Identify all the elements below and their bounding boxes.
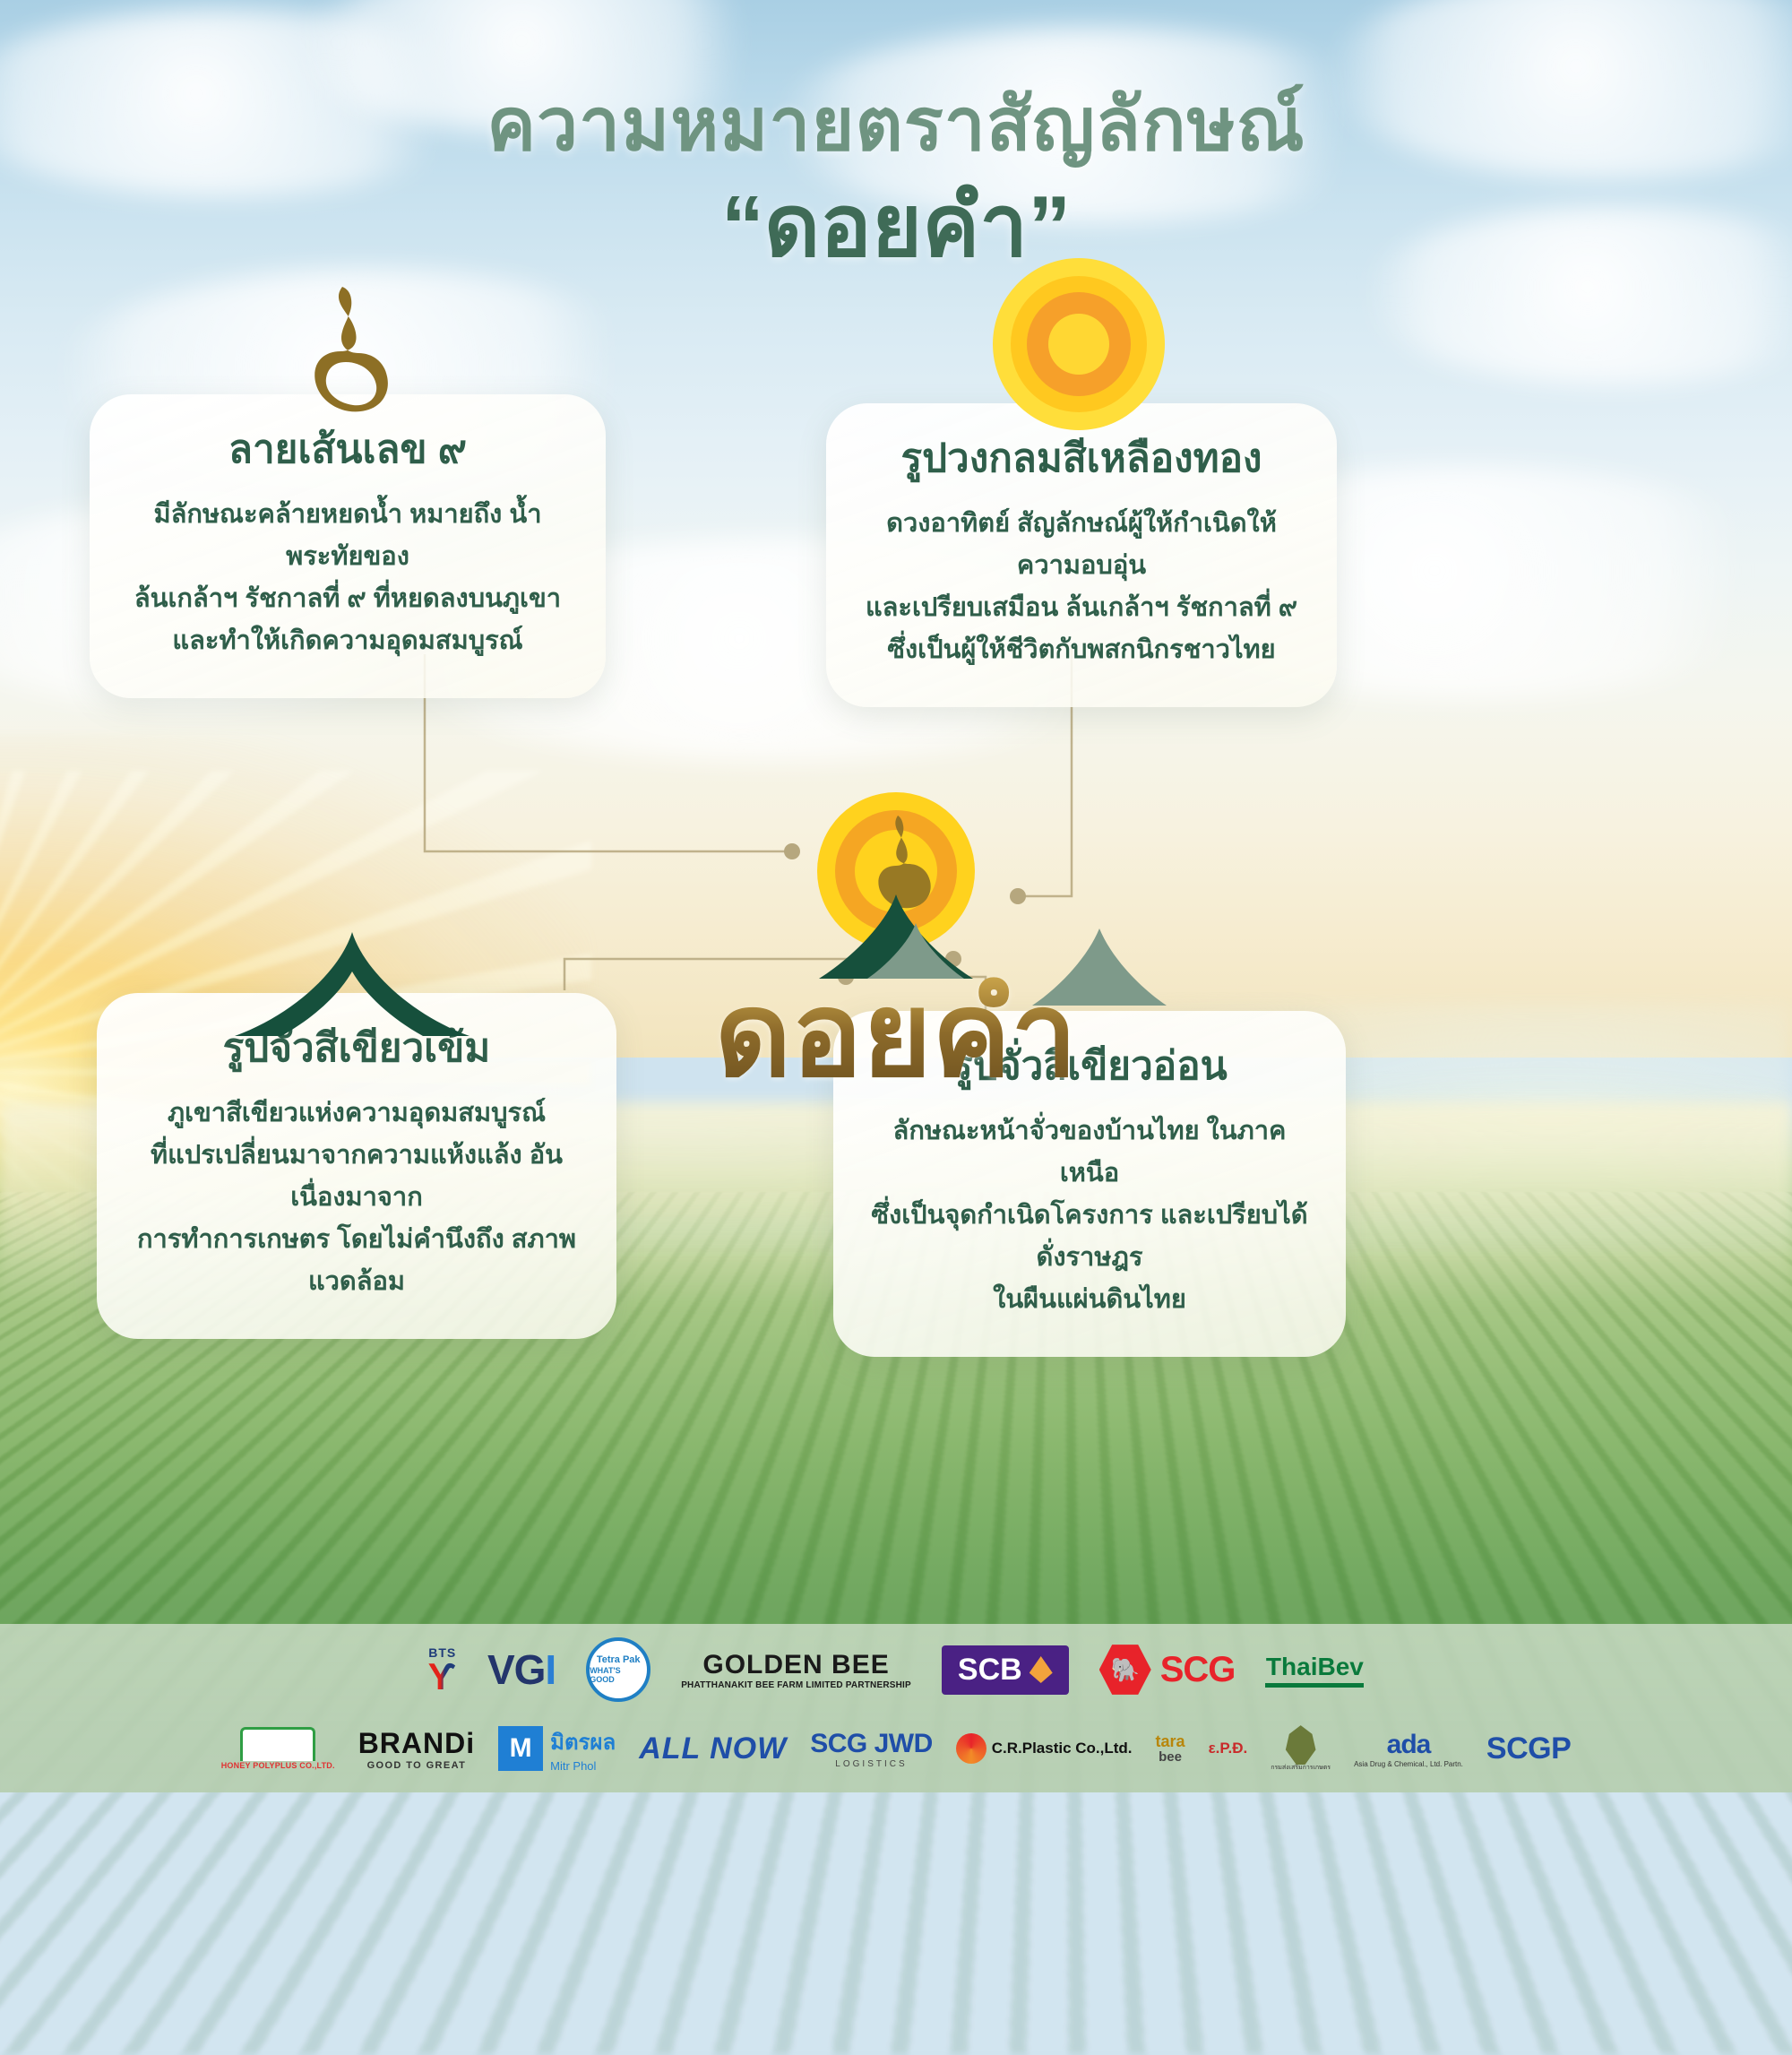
brand-wordmark: ดอยคำ — [0, 976, 1792, 1094]
sponsor-label: ThaiBev — [1266, 1653, 1364, 1681]
sponsor-label: BRANDi — [358, 1727, 475, 1760]
sponsor-logo-bts[interactable]: BTS Ƴ — [428, 1645, 457, 1694]
brand-logo-block: ดอยคำ — [0, 789, 1792, 1094]
sponsor-sublabel: Asia Drug & Chemical., Ltd. Partn. — [1354, 1760, 1463, 1768]
card-body: ดวงอาทิตย์ สัญลักษณ์ผู้ให้กำเนิดให้ความอ… — [862, 503, 1301, 671]
card-top-left: ลายเส้นเลข ๙ มีลักษณะคล้ายหยดน้ำ หมายถึง… — [90, 394, 606, 698]
card-body-line: และทำให้เกิดความอุดมสมบูรณ์ — [125, 620, 570, 662]
page-subtitle: “ดอยคำ” — [0, 178, 1792, 275]
sponsor-label: ε.Ρ.Đ. — [1209, 1740, 1248, 1757]
sponsor-logo-government-agency[interactable]: กรมส่งเสริมการเกษตร — [1271, 1725, 1331, 1772]
card-body-line: ดวงอาทิตย์ สัญลักษณ์ผู้ให้กำเนิดให้ความอ… — [862, 503, 1301, 587]
sponsor-label: ada — [1387, 1730, 1431, 1760]
sponsor-label: ALL NOW — [639, 1731, 787, 1766]
sponsor-label: HONEY POLYPLUS CO.,LTD. — [221, 1761, 335, 1770]
sponsor-sublabel: กรมส่งเสริมการเกษตร — [1271, 1765, 1331, 1772]
page-title-block: ความหมายตราสัญลักษณ์ “ดอยคำ” — [0, 86, 1792, 274]
sponsor-logo-golden-bee[interactable]: GOLDEN BEE PHATTHANAKIT BEE FARM LIMITED… — [681, 1650, 911, 1690]
cr-plastic-mark-icon — [956, 1733, 986, 1764]
sponsor-logo-thaibev[interactable]: ThaiBev — [1265, 1653, 1364, 1688]
card-body: มีลักษณะคล้ายหยดน้ำ หมายถึง น้ำพระทัยของ… — [125, 494, 570, 662]
sponsor-logo-brandi[interactable]: BRANDi GOOD TO GREAT — [358, 1727, 475, 1771]
card-body-line: ซึ่งเป็นผู้ให้ชีวิตกับพสกนิกรชาวไทย — [862, 629, 1301, 671]
sponsor-mark: Ƴ — [428, 1660, 457, 1694]
sponsor-logo-ada[interactable]: ada Asia Drug & Chemical., Ltd. Partn. — [1354, 1730, 1463, 1768]
sponsor-label: Tetra Pak — [597, 1655, 641, 1666]
card-body: ภูเขาสีเขียวแห่งความอุดมสมบูรณ์ ที่แปรเป… — [133, 1092, 581, 1303]
sponsor-logo-scg-jwd[interactable]: SCG JWD LOGISTICS — [810, 1729, 933, 1769]
doikham-logo-icon — [797, 789, 995, 981]
card-body-line: การทำการเกษตร โดยไม่คำนึงถึง สภาพแวดล้อม — [133, 1219, 581, 1303]
page-title: ความหมายตราสัญลักษณ์ — [0, 86, 1792, 166]
sponsor-logo-scg[interactable]: 🐘 SCG — [1099, 1644, 1236, 1696]
sponsor-row-1: BTS Ƴ VGI Tetra Pak WHAT'S GOOD GOLDEN B… — [0, 1624, 1792, 1710]
card-body-line: ล้นเกล้าฯ รัชกาลที่ ๙ ที่หยดลงบนภูเขา — [125, 578, 570, 620]
sponsor-logo-all-now[interactable]: ALL NOW — [639, 1731, 787, 1766]
beehive-house-icon — [240, 1727, 315, 1761]
sponsor-label: GOLDEN BEE — [702, 1650, 889, 1680]
sponsor-sublabel: GOOD TO GREAT — [367, 1760, 467, 1771]
sponsor-sublabel: PHATTHANAKIT BEE FARM LIMITED PARTNERSHI… — [681, 1680, 911, 1690]
elephant-icon: 🐘 — [1099, 1644, 1151, 1696]
card-body-line: ซึ่งเป็นจุดกำเนิดโครงการ และเปรียบได้ดั่… — [869, 1195, 1310, 1279]
sponsor-sublabel: WHAT'S GOOD — [590, 1666, 647, 1684]
sponsor-logo-mitr-phol[interactable]: M มิตรผล Mitr Phol — [498, 1724, 616, 1773]
card-body-line: ในผืนแผ่นดินไทย — [869, 1279, 1310, 1321]
sponsor-logo-vgi[interactable]: VGI — [487, 1645, 556, 1694]
sponsor-label: SCB — [958, 1653, 1022, 1688]
sponsor-label: SCG JWD — [810, 1729, 933, 1759]
card-title: ลายเส้นเลข ๙ — [125, 425, 570, 474]
golden-circle-sun-icon — [991, 256, 1167, 432]
card-body-line: ภูเขาสีเขียวแห่งความอุดมสมบูรณ์ — [133, 1092, 581, 1135]
sponsor-logo-honey-polyplus[interactable]: HONEY POLYPLUS CO.,LTD. — [221, 1727, 335, 1770]
sponsor-row-2: HONEY POLYPLUS CO.,LTD. BRANDi GOOD TO G… — [0, 1710, 1792, 1787]
card-body-line: ลักษณะหน้าจั่วของบ้านไทย ในภาคเหนือ — [869, 1110, 1310, 1195]
card-body-line: มีลักษณะคล้ายหยดน้ำ หมายถึง น้ำพระทัยของ — [125, 494, 570, 578]
sponsor-bar: BTS Ƴ VGI Tetra Pak WHAT'S GOOD GOLDEN B… — [0, 1624, 1792, 1792]
sponsor-label: มิตรผล — [550, 1724, 616, 1759]
sponsor-accent: I — [545, 1645, 556, 1694]
sponsor-logo-scgp[interactable]: SCGP — [1486, 1731, 1571, 1766]
card-body-line: ที่แปรเปลี่ยนมาจากความแห้งแล้ง อันเนื่อง… — [133, 1135, 581, 1219]
garuda-emblem-icon — [1283, 1725, 1319, 1765]
thai-numeral-nine-icon — [296, 285, 394, 419]
sponsor-label: tara — [1156, 1733, 1185, 1749]
card-top-right: รูปวงกลมสีเหลืองทอง ดวงอาทิตย์ สัญลักษณ์… — [826, 403, 1337, 707]
sponsor-sublabel: bee — [1159, 1749, 1182, 1765]
sponsor-sublabel: LOGISTICS — [835, 1759, 907, 1769]
sponsor-logo-tetra-pak[interactable]: Tetra Pak WHAT'S GOOD — [586, 1637, 650, 1702]
scb-diamond-icon — [1030, 1656, 1053, 1683]
sponsor-label: C.R.Plastic Co.,Ltd. — [992, 1740, 1133, 1757]
sponsor-label: SCG — [1160, 1650, 1236, 1690]
thaibev-underline — [1265, 1683, 1364, 1688]
sponsor-logo-cr-plastic[interactable]: C.R.Plastic Co.,Ltd. — [956, 1733, 1133, 1764]
card-title: รูปวงกลมสีเหลืองทอง — [862, 434, 1301, 483]
sponsor-sublabel: Mitr Phol — [550, 1759, 616, 1773]
sponsor-label: SCGP — [1486, 1731, 1571, 1766]
sponsor-logo-scb[interactable]: SCB — [942, 1645, 1069, 1695]
sponsor-label: VG — [487, 1645, 545, 1694]
mitrphol-mark-icon: M — [498, 1726, 543, 1771]
card-body: ลักษณะหน้าจั่วของบ้านไทย ในภาคเหนือ ซึ่ง… — [869, 1110, 1310, 1321]
sponsor-logo-tara-bee[interactable]: tara bee — [1156, 1733, 1185, 1765]
sponsor-logo-epd[interactable]: ε.Ρ.Đ. — [1209, 1740, 1248, 1757]
card-body-line: และเปรียบเสมือน ล้นเกล้าฯ รัชกาลที่ ๙ — [862, 587, 1301, 629]
